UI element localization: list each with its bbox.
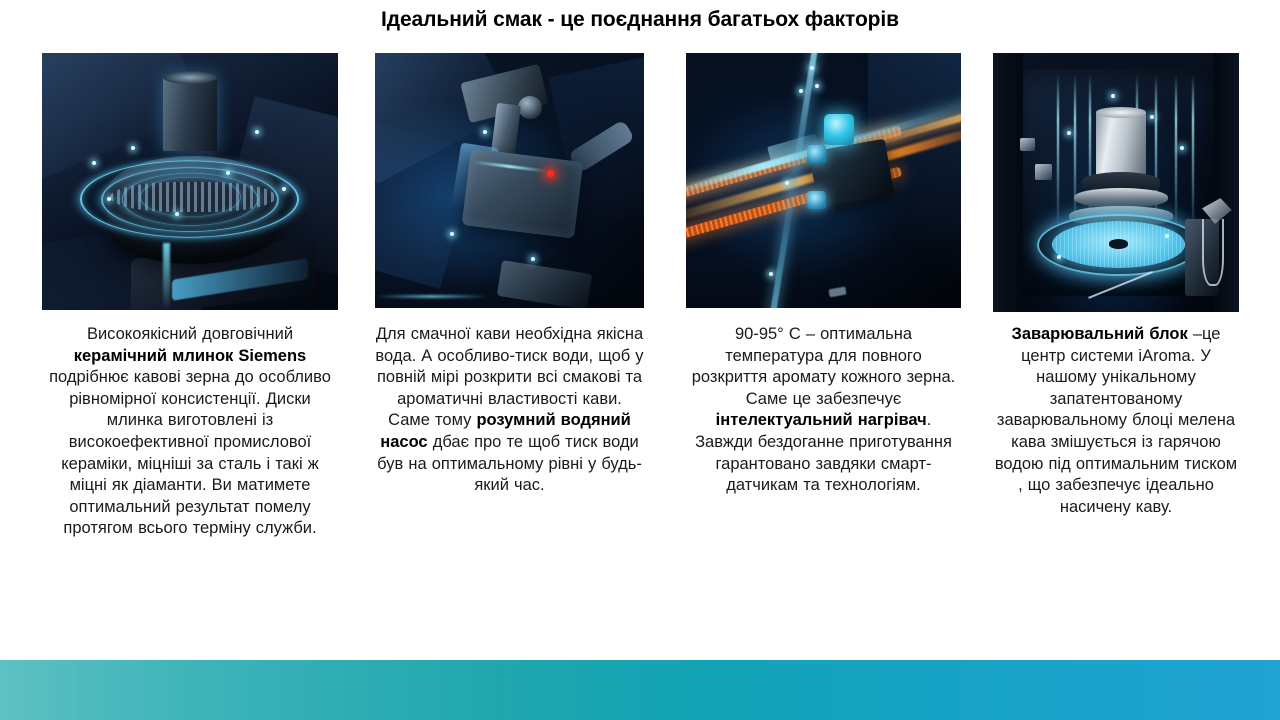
brewing-reflector-a [1020, 138, 1035, 151]
grinder-spark [282, 187, 286, 191]
brewing-spark [1057, 255, 1061, 259]
brewing-piston-cap [1096, 107, 1145, 117]
heater-spark [810, 66, 814, 70]
caption-emphasis: керамічний млинок Siemens [74, 347, 306, 365]
heater-spark [815, 84, 819, 88]
brewing-side-wall-left [993, 53, 1023, 312]
water-pump-image [375, 53, 644, 308]
pump-spark [450, 232, 454, 236]
grinder-light-beam [163, 243, 170, 310]
brewing-reflector-b [1035, 164, 1052, 180]
intelligent-heater-image [686, 53, 961, 308]
grinder-glow-ring-4 [140, 177, 241, 217]
heater-smart-sensor [824, 114, 854, 145]
feature-column-heater: 90-95° С – оптимальна температура для по… [686, 53, 961, 497]
heater-spark [799, 89, 803, 93]
caption-grinder: Високоякісний довговічний керамічний мли… [42, 324, 338, 540]
pump-joint [518, 96, 542, 119]
feature-column-brewing-unit: Заварювальний блок –це центр системи iAr… [993, 53, 1239, 518]
grinder-spark [131, 146, 135, 150]
heater-spark [769, 272, 773, 276]
ceramic-grinder-image [42, 53, 338, 310]
brewing-water-stream [1175, 74, 1177, 224]
brewing-unit-image [993, 53, 1239, 312]
heater-spark [785, 181, 789, 185]
heater-actuator-upper [807, 145, 826, 163]
grinder-spark [226, 171, 230, 175]
caption-emphasis: розумний водяний насос [380, 411, 631, 451]
brewing-disc-center-hole [1109, 239, 1129, 248]
feature-column-grinder: Високоякісний довговічний керамічний мли… [42, 53, 338, 540]
footer-accent-band [0, 660, 1280, 720]
heater-actuator-lower [807, 191, 826, 209]
caption-brewing-unit: Заварювальний блок –це центр системи iAr… [993, 324, 1239, 518]
grinder-spark [107, 197, 111, 201]
caption-pump: Для смачної кави необхідна якісна вода. … [375, 324, 644, 497]
brewing-water-stream [1057, 74, 1059, 224]
brewing-spark [1067, 131, 1071, 135]
brewing-water-stream [1192, 74, 1194, 224]
slide-root: Ідеальний смак - це поєднання багатьох ф… [0, 0, 1280, 720]
caption-heater: 90-95° С – оптимальна температура для по… [686, 324, 961, 497]
brewing-piston [1096, 110, 1145, 177]
grinder-hub-cap [163, 71, 216, 84]
pump-spark [531, 257, 535, 261]
pump-floor-glow [375, 295, 488, 298]
caption-emphasis: Заварювальний блок [1012, 325, 1188, 343]
feature-columns: Високоякісний довговічний керамічний мли… [0, 53, 1280, 593]
page-title: Ідеальний смак - це поєднання багатьох ф… [0, 8, 1280, 32]
caption-emphasis: інтелектуальний нагрівач [716, 411, 927, 429]
pump-spark [483, 130, 487, 134]
feature-column-pump: Для смачної кави необхідна якісна вода. … [375, 53, 644, 497]
grinder-hub [163, 74, 216, 151]
brewing-hook [1202, 219, 1224, 286]
